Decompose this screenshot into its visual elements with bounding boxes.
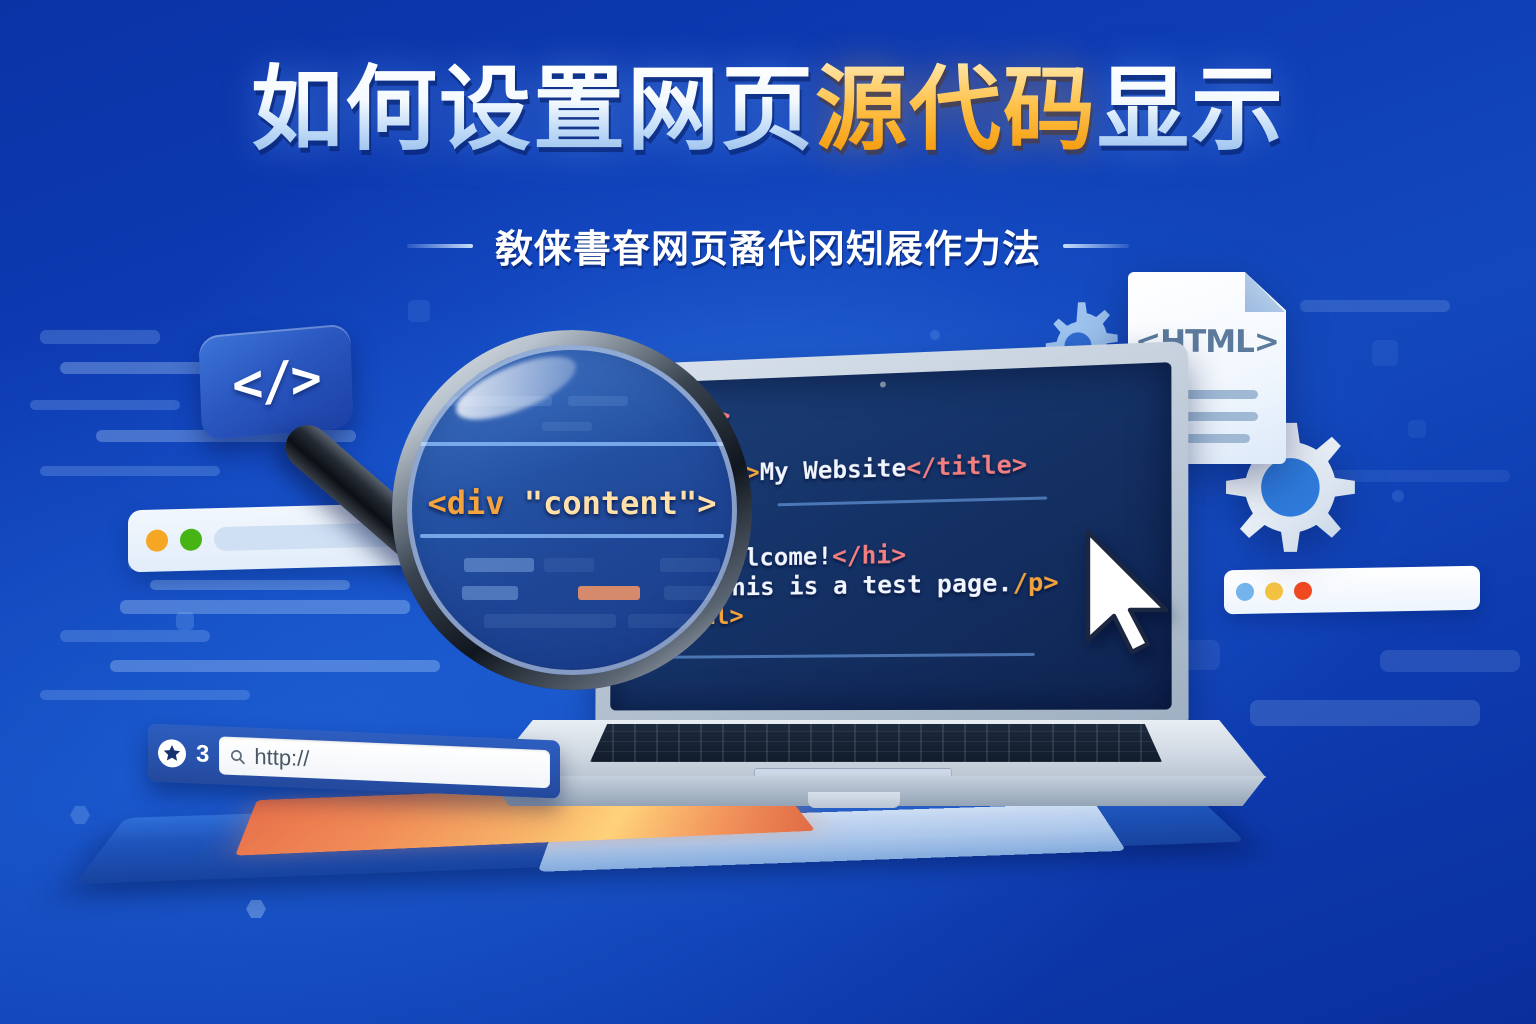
green-dot bbox=[180, 528, 202, 551]
title-part-3: 显示 bbox=[1097, 56, 1285, 163]
subtitle-block: 敎俫書眘网页矞代冈矧屐作力法 bbox=[0, 218, 1536, 273]
url-input[interactable]: http:// bbox=[219, 736, 550, 788]
poster-canvas: 如何设置网页源代码显示 敎俫書眘网页矞代冈矧屐作力法 </> bbox=[0, 0, 1536, 1024]
search-icon bbox=[229, 747, 246, 765]
title-block: 如何设置网页源代码显示 bbox=[0, 62, 1536, 159]
subtitle-rule-left bbox=[407, 244, 473, 248]
url-text: http:// bbox=[254, 744, 309, 772]
document-fold bbox=[1245, 272, 1285, 312]
mouse-pointer-icon bbox=[1080, 528, 1184, 660]
laptop-front-notch bbox=[808, 792, 900, 808]
code-token: /p> bbox=[1013, 567, 1059, 597]
code-token: </title> bbox=[906, 449, 1027, 482]
magnifier-rim bbox=[392, 330, 752, 690]
laptop-keyboard bbox=[590, 724, 1162, 762]
webcam-dot bbox=[880, 381, 886, 387]
star-icon[interactable] bbox=[158, 739, 186, 768]
bookmark-count: 3 bbox=[196, 740, 209, 769]
code-token: This is a test page. bbox=[717, 568, 1013, 602]
page-subtitle: 敎俫書眘网页矞代冈矧屐作力法 bbox=[495, 218, 1041, 273]
subtitle-rule-right bbox=[1063, 244, 1129, 248]
code-brackets-icon: </> bbox=[198, 323, 353, 440]
page-title: 如何设置网页源代码显示 bbox=[251, 62, 1285, 159]
code-token: </hi> bbox=[832, 540, 906, 570]
code-badge-label: </> bbox=[231, 348, 321, 416]
orange-dot bbox=[146, 529, 168, 552]
magnifier-glass: <div "content"> bbox=[392, 330, 752, 690]
code-token: My Website bbox=[760, 453, 907, 486]
laptop-base bbox=[486, 720, 1266, 812]
title-part-accent: 源代码 bbox=[815, 56, 1097, 163]
title-part-1: 如何设置网页 bbox=[251, 56, 815, 163]
